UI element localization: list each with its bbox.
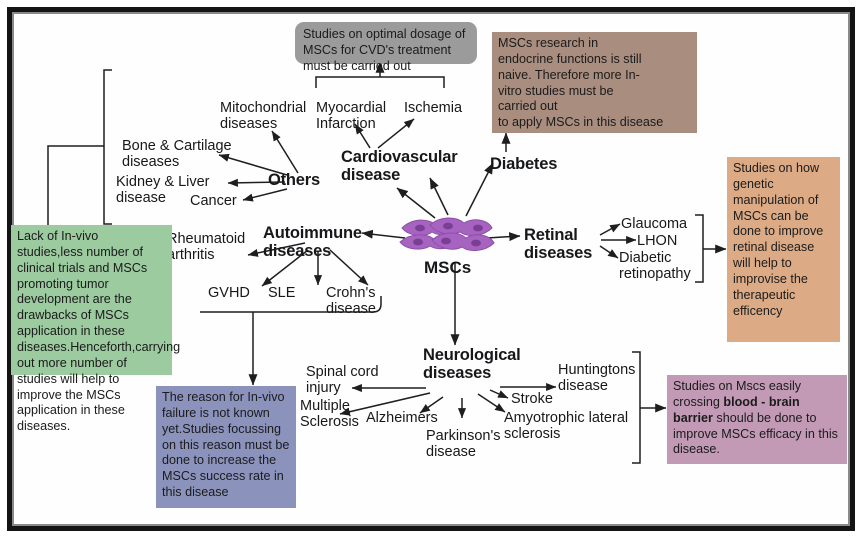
leaf-crohns-line2: disease: [326, 301, 376, 317]
callout-brown-line4: vitro studies must be: [498, 84, 692, 100]
hub-retinal-line1: Retinal: [524, 226, 592, 244]
leaf-spinal-line1: Spinal cord: [306, 364, 379, 380]
hub-cardiovascular-line2: disease: [341, 166, 457, 184]
leaf-myocardial-infarction[interactable]: Myocardial Infarction: [316, 100, 386, 132]
leaf-amyotrophic-lateral-sclerosis[interactable]: Amyotrophic lateral sclerosis: [504, 410, 628, 442]
callout-brown-line1: MSCs research in: [498, 36, 692, 52]
leaf-lhon[interactable]: LHON: [637, 233, 677, 249]
leaf-rheumatoid-line1: Rheumatoid: [167, 231, 245, 247]
leaf-crohns-line1: Crohn's: [326, 285, 376, 301]
leaf-crohns-disease[interactable]: Crohn's disease: [326, 285, 376, 317]
leaf-parkinsons-disease[interactable]: Parkinson's disease: [426, 428, 501, 460]
leaf-multiple-line2: Sclerosis: [300, 414, 359, 430]
leaf-ischemia[interactable]: Ischemia: [404, 100, 462, 116]
leaf-mitochondrial-diseases[interactable]: Mitochondrial diseases: [220, 100, 306, 132]
callout-brown-line2: endocrine functions is still: [498, 52, 692, 68]
leaf-diabetic-line1: Diabetic: [619, 250, 691, 266]
hub-others[interactable]: Others: [268, 171, 320, 189]
leaf-huntingtons-line2: disease: [558, 378, 635, 394]
callout-brown-line6: to apply MSCs in this disease: [498, 115, 692, 131]
callout-brown-line3: naive. Therefore more In-: [498, 68, 692, 84]
leaf-glaucoma[interactable]: Glaucoma: [621, 216, 687, 232]
leaf-parkinsons-line1: Parkinson's: [426, 428, 501, 444]
hub-neurological-line1: Neurological: [423, 346, 521, 364]
leaf-huntingtons-disease[interactable]: Huntingtons disease: [558, 362, 635, 394]
leaf-rheumatoid-line2: arthritis: [167, 247, 245, 263]
leaf-bone-line1: Bone & Cartilage: [122, 138, 232, 154]
diagram-canvas: MSCs Others Cardiovascular disease Diabe…: [0, 0, 865, 546]
leaf-diabetic-retinopathy[interactable]: Diabetic retinopathy: [619, 250, 691, 282]
leaf-als-line1: Amyotrophic lateral: [504, 410, 628, 426]
leaf-cancer[interactable]: Cancer: [190, 193, 237, 209]
leaf-bone-cartilage-diseases[interactable]: Bone & Cartilage diseases: [122, 138, 232, 170]
hub-cardiovascular-disease[interactable]: Cardiovascular disease: [341, 148, 457, 185]
callout-orange-genetic-manipulation[interactable]: Studies on how genetic manipulation of M…: [727, 157, 840, 342]
leaf-stroke[interactable]: Stroke: [511, 391, 553, 407]
callout-brown-line5: carried out: [498, 99, 692, 115]
leaf-bone-line2: diseases: [122, 154, 232, 170]
leaf-myocardial-line2: Infarction: [316, 116, 386, 132]
leaf-als-line2: sclerosis: [504, 426, 628, 442]
leaf-mitochondrial-line1: Mitochondrial: [220, 100, 306, 116]
leaf-multiple-line1: Multiple: [300, 398, 359, 414]
leaf-spinal-cord-injury[interactable]: Spinal cord injury: [306, 364, 379, 396]
callout-gray-cvd-dosage[interactable]: Studies on optimal dosage of MSCs for CV…: [295, 22, 477, 64]
leaf-mitochondrial-line2: diseases: [220, 116, 306, 132]
leaf-sle[interactable]: SLE: [268, 285, 295, 301]
hub-autoimmune-line2: diseases: [263, 242, 362, 260]
leaf-rheumatoid-arthritis[interactable]: Rheumatoid arthritis: [167, 231, 245, 263]
leaf-myocardial-line1: Myocardial: [316, 100, 386, 116]
hub-retinal-line2: diseases: [524, 244, 592, 262]
mesenchymal-stem-cell-cluster-icon: [398, 212, 498, 260]
leaf-kidney-line1: Kidney & Liver: [116, 174, 210, 190]
leaf-parkinsons-line2: disease: [426, 444, 501, 460]
leaf-diabetic-line2: retinopathy: [619, 266, 691, 282]
hub-autoimmune-line1: Autoimmune: [263, 224, 362, 242]
diagram-content: MSCs Others Cardiovascular disease Diabe…: [0, 0, 865, 546]
callout-brown-endocrine[interactable]: MSCs research in endocrine functions is …: [492, 32, 697, 133]
leaf-multiple-sclerosis[interactable]: Multiple Sclerosis: [300, 398, 359, 430]
hub-diabetes[interactable]: Diabetes: [490, 155, 557, 173]
leaf-alzheimers[interactable]: Alzheimers: [366, 410, 438, 426]
hub-neurological-diseases[interactable]: Neurological diseases: [423, 346, 521, 383]
callout-blue-invivo-failure[interactable]: The reason for In-vivo failure is not kn…: [156, 386, 296, 508]
callout-green-invivo-drawbacks[interactable]: Lack of In-vivo studies,less number of c…: [11, 225, 172, 375]
hub-retinal-diseases[interactable]: Retinal diseases: [524, 226, 592, 263]
center-node-label: MSCs: [424, 258, 471, 277]
callout-purple-blood-brain-barrier[interactable]: Studies on Mscs easily crossing blood - …: [667, 375, 847, 464]
hub-autoimmune-diseases[interactable]: Autoimmune diseases: [263, 224, 362, 261]
hub-neurological-line2: diseases: [423, 364, 521, 382]
leaf-spinal-line2: injury: [306, 380, 379, 396]
leaf-huntingtons-line1: Huntingtons: [558, 362, 635, 378]
hub-cardiovascular-line1: Cardiovascular: [341, 148, 457, 166]
leaf-gvhd[interactable]: GVHD: [208, 285, 250, 301]
